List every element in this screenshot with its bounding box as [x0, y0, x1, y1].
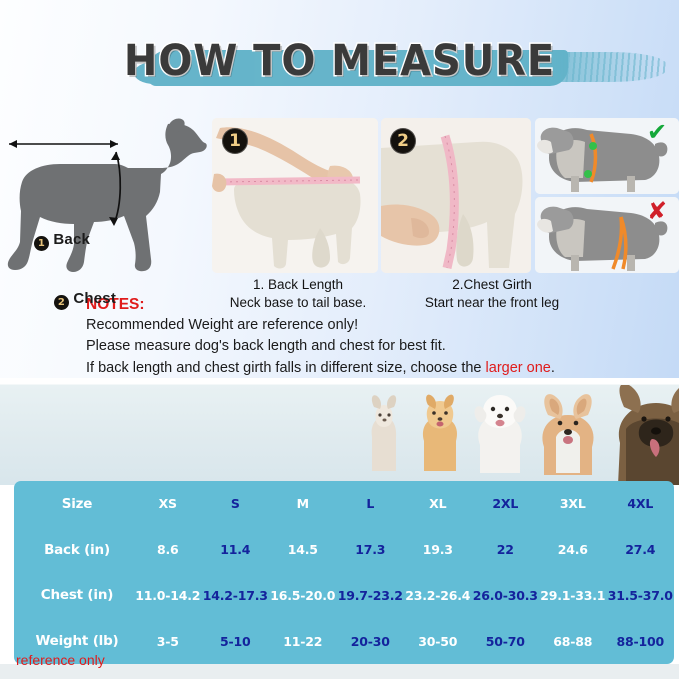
dog-german-shepherd: [618, 385, 679, 485]
cell-chest-s: 14.2-17.3: [202, 573, 270, 619]
size-table-body: Size XS S M L XL 2XL 3XL 4XL Back (in) 8…: [14, 481, 674, 664]
reference-only-note: reference only: [16, 652, 105, 668]
size-chart-table: Size XS S M L XL 2XL 3XL 4XL Back (in) 8…: [14, 481, 674, 664]
dog-silhouette-svg: [0, 112, 212, 284]
photo-badge-2: 2: [390, 128, 416, 154]
cell-back-3xl: 24.6: [539, 527, 607, 573]
chest-label-text: Chest: [73, 290, 116, 307]
cell-back-l: 17.3: [337, 527, 405, 573]
cell-chest-3xl: 29.1-33.1: [539, 573, 607, 619]
photo-wrong-position: ✘: [535, 197, 679, 273]
table-row-back: Back (in) 8.6 11.4 14.5 17.3 19.3 22 24.…: [14, 527, 674, 573]
notes-block: NOTES: Recommended Weight are reference …: [86, 296, 646, 379]
table-row-weight: Weight (lb) 3-5 5-10 11-22 20-30 30-50 5…: [14, 618, 674, 664]
cell-size-2xl: 2XL: [472, 481, 540, 527]
cell-weight-s: 5-10: [202, 618, 270, 664]
check-icon: ✔: [647, 118, 667, 146]
cell-weight-xl: 30-50: [404, 618, 472, 664]
size-table: Size XS S M L XL 2XL 3XL 4XL Back (in) 8…: [14, 481, 674, 664]
cell-chest-m: 16.5-20.0: [269, 573, 337, 619]
dog-poodle: [475, 395, 526, 473]
cell-size-3xl: 3XL: [539, 481, 607, 527]
caption-back-line1: 1. Back Length: [212, 276, 384, 294]
cell-chest-l: 19.7-23.2: [337, 573, 405, 619]
row-label-chest: Chest (in): [14, 573, 134, 619]
cell-weight-xs: 3-5: [134, 618, 202, 664]
row-label-size: Size: [14, 481, 134, 527]
photo-chest-girth: 2: [381, 118, 531, 273]
cell-chest-4xl: 31.5-37.0: [607, 573, 675, 619]
notes-line-2: Please measure dog's back length and che…: [86, 336, 646, 357]
badge-two-chest: 2: [54, 295, 69, 310]
cell-chest-xs: 11.0-14.2: [134, 573, 202, 619]
cell-back-2xl: 22: [472, 527, 540, 573]
notes-heading: NOTES:: [86, 296, 646, 314]
notes-line-1: Recommended Weight are reference only!: [86, 315, 646, 336]
size-chart-infographic: HOW TO MEASURE 1 Back 2: [0, 0, 679, 679]
caption-chest-line1: 2.Chest Girth: [392, 276, 592, 294]
chest-measure-label: 2 Chest: [54, 290, 116, 310]
cell-weight-2xl: 50-70: [472, 618, 540, 664]
cell-weight-m: 11-22: [269, 618, 337, 664]
notes-line-3-post: .: [551, 360, 555, 376]
photo-back-length: 1: [212, 118, 378, 273]
notes-line-3-pre: If back length and chest girth falls in …: [86, 360, 486, 376]
cross-icon: ✘: [647, 197, 667, 225]
cell-size-xs: XS: [134, 481, 202, 527]
cell-size-xl: XL: [404, 481, 472, 527]
cell-size-l: L: [337, 481, 405, 527]
dog-chihuahua: [372, 395, 397, 471]
photo-correct-position: ✔: [535, 118, 679, 194]
dog-photo-strip-section: [0, 378, 679, 485]
cell-size-4xl: 4XL: [607, 481, 675, 527]
dog-size-progression: [0, 385, 679, 485]
top-section: HOW TO MEASURE 1 Back 2: [0, 0, 679, 378]
table-row-chest: Chest (in) 11.0-14.2 14.2-17.3 16.5-20.0…: [14, 573, 674, 619]
back-measure-label: 1 Back: [34, 231, 90, 251]
cell-back-m: 14.5: [269, 527, 337, 573]
dog-silhouette-diagram: 1 Back 2 Chest: [0, 112, 212, 284]
cell-chest-2xl: 26.0-30.3: [472, 573, 540, 619]
cell-weight-l: 20-30: [337, 618, 405, 664]
cell-back-xs: 8.6: [134, 527, 202, 573]
row-label-back: Back (in): [14, 527, 134, 573]
page-title: HOW TO MEASURE: [24, 36, 655, 86]
cell-back-s: 11.4: [202, 527, 270, 573]
notes-line-3-emphasis: larger one: [486, 360, 551, 376]
cell-back-4xl: 27.4: [607, 527, 675, 573]
table-row-size: Size XS S M L XL 2XL 3XL 4XL: [14, 481, 674, 527]
cell-weight-3xl: 68-88: [539, 618, 607, 664]
back-label-text: Back: [53, 231, 90, 248]
cell-size-m: M: [269, 481, 337, 527]
notes-line-3: If back length and chest girth falls in …: [86, 358, 646, 379]
dog-pomeranian: [423, 395, 457, 471]
cell-chest-xl: 23.2-26.4: [404, 573, 472, 619]
badge-one-back: 1: [34, 236, 49, 251]
photo-badge-1: 1: [222, 128, 248, 154]
cell-size-s: S: [202, 481, 270, 527]
cell-weight-4xl: 88-100: [607, 618, 675, 664]
cell-back-xl: 19.3: [404, 527, 472, 573]
dog-corgi: [542, 394, 593, 475]
